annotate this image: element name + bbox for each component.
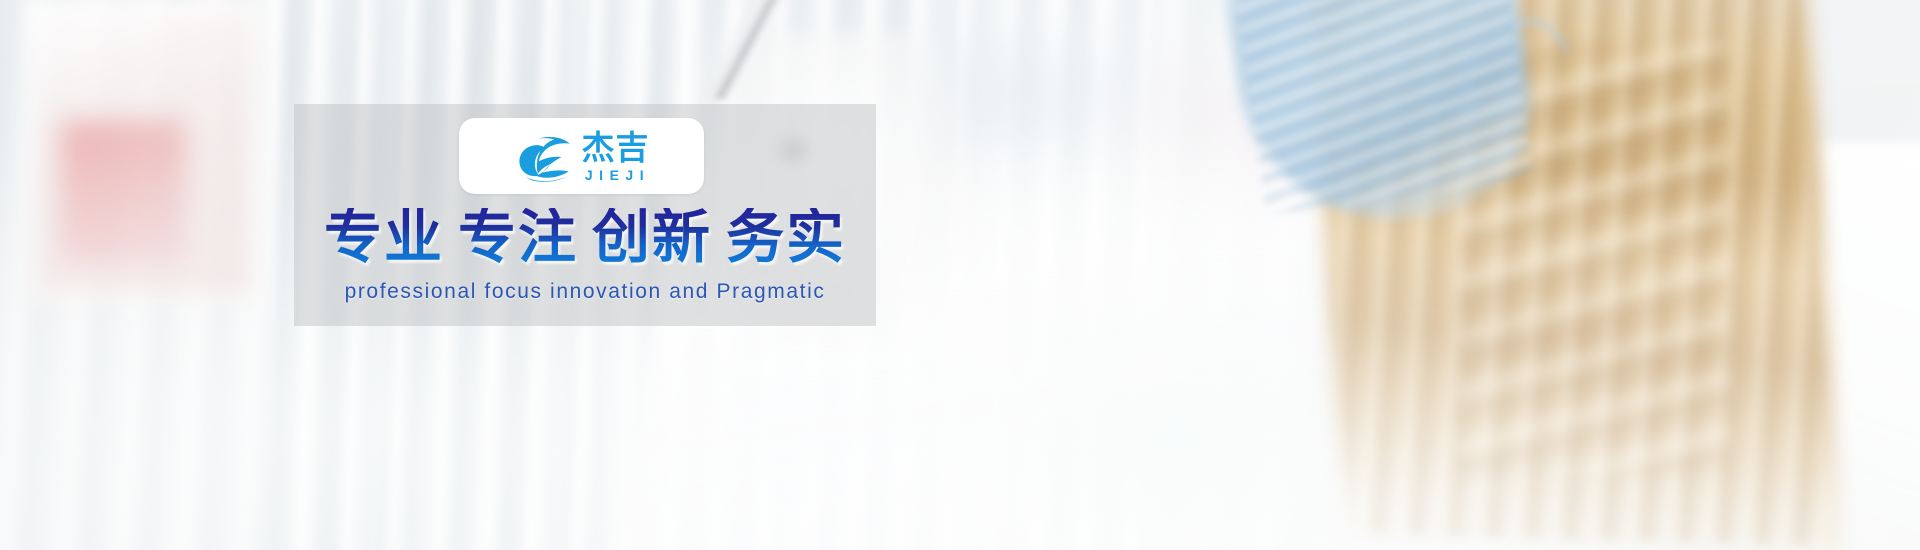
background-photo xyxy=(0,0,1920,550)
brand-name-cn: 杰吉 xyxy=(581,132,649,164)
background-soft-veil xyxy=(0,0,1920,550)
brand-logotype: 杰吉 JIEJI xyxy=(581,132,650,182)
slogan-subtitle: professional focus innovation and Pragma… xyxy=(294,280,876,304)
slogan-word-4: 务实 xyxy=(726,205,846,270)
slogan-word-3: 创新 xyxy=(592,205,712,270)
slogan-headline: 专业专注创新务实 xyxy=(294,208,876,268)
hero-banner: 杰吉 JIEJI 专业专注创新务实 professional focus inn… xyxy=(0,0,1920,550)
slogan-word-1: 专业 xyxy=(324,205,444,270)
jieji-swirl-logo-icon xyxy=(513,128,575,184)
slogan-word-2: 专注 xyxy=(458,205,578,270)
slogan-panel: 杰吉 JIEJI 专业专注创新务实 professional focus inn… xyxy=(294,104,876,326)
brand-logo[interactable]: 杰吉 JIEJI xyxy=(459,118,704,194)
brand-name-en: JIEJI xyxy=(585,168,650,182)
